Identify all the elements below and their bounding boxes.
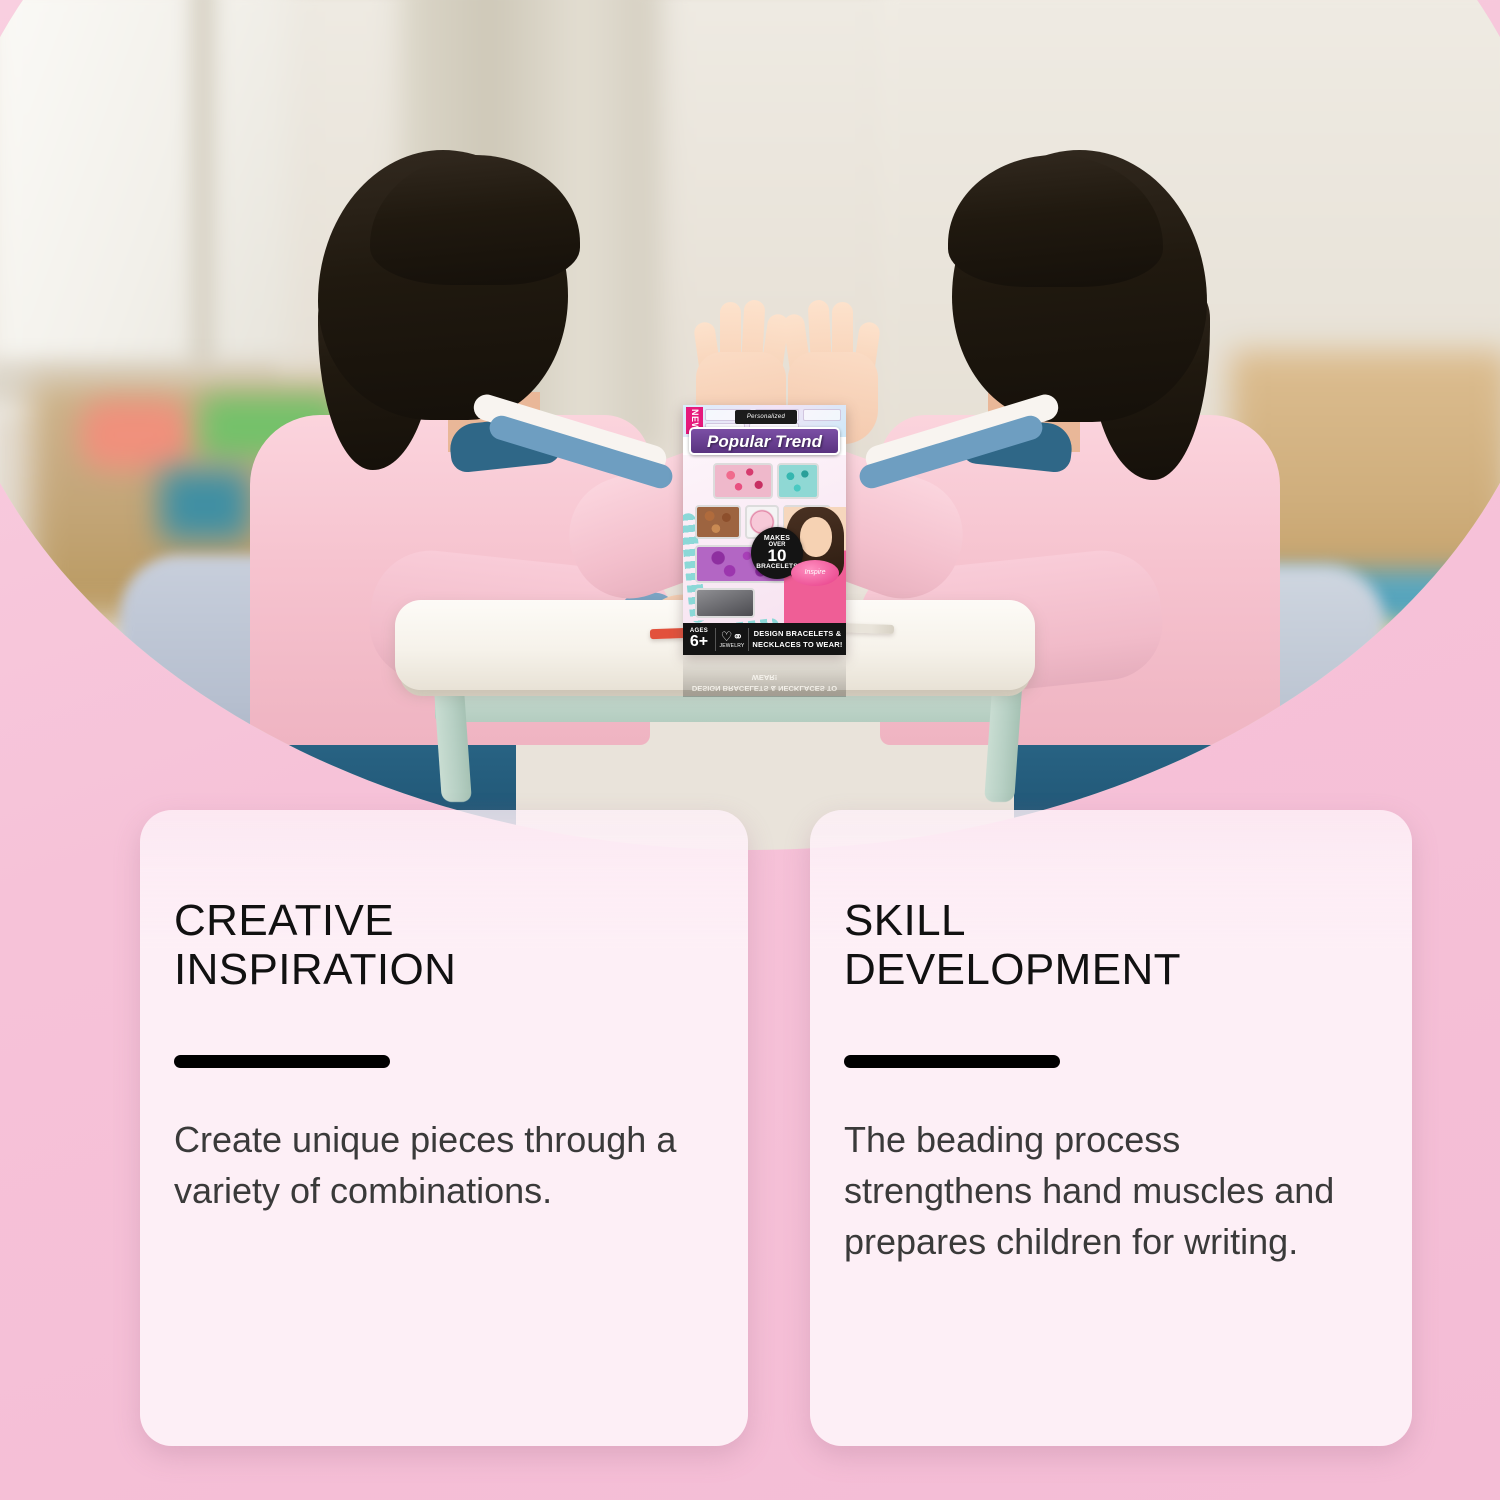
badge-line-makes: MAKES bbox=[764, 535, 790, 542]
badge-number: 10 bbox=[768, 548, 787, 564]
window-mullion bbox=[190, 0, 216, 420]
model-face bbox=[800, 517, 832, 557]
product-oval-script: Inspire bbox=[791, 560, 839, 586]
ages-value: 6+ bbox=[683, 634, 715, 650]
white-pen bbox=[838, 623, 894, 634]
product-box: LAB NO NEW Personalized Jewelry Popular … bbox=[683, 405, 846, 655]
product-box-reflection: DESIGN BRACELETS & NECKLACES TO WEAR! bbox=[683, 655, 846, 697]
page-canvas: LAB NO NEW Personalized Jewelry Popular … bbox=[0, 0, 1500, 1500]
card-body-text: Create unique pieces through a variety o… bbox=[174, 1114, 714, 1216]
product-box-footer: AGES 6+ ♡⚭ JEWELRY DESIGN BRACELETS & NE… bbox=[683, 623, 846, 655]
hero-photo: LAB NO NEW Personalized Jewelry Popular … bbox=[0, 0, 1500, 850]
bead-tray-grey bbox=[695, 588, 755, 618]
bead-tray-brown bbox=[695, 505, 741, 539]
heart-necklace-icon: ♡⚭ bbox=[721, 629, 744, 644]
feature-card-skill-development: SKILL DEVELOPMENT The beading process st… bbox=[810, 810, 1412, 1446]
bead-tray-pink bbox=[713, 463, 773, 499]
product-brand-tag: Personalized Jewelry bbox=[735, 410, 797, 424]
background-toy-orange bbox=[80, 400, 190, 470]
card-body-text: The beading process strengthens hand mus… bbox=[844, 1114, 1378, 1267]
card-divider bbox=[174, 1055, 390, 1068]
card-title: CREATIVE INSPIRATION bbox=[174, 896, 714, 995]
room-window bbox=[0, 0, 290, 410]
card-divider bbox=[844, 1055, 1060, 1068]
background-toy-teal bbox=[160, 470, 250, 540]
ages-block: AGES 6+ bbox=[683, 628, 715, 650]
hero-photo-ellipse-mask: LAB NO NEW Personalized Jewelry Popular … bbox=[0, 0, 1500, 850]
card-title: SKILL DEVELOPMENT bbox=[844, 896, 1378, 995]
jewelry-icon-label: JEWELRY bbox=[716, 644, 748, 649]
feature-card-creative-inspiration: CREATIVE INSPIRATION Create unique piece… bbox=[140, 810, 748, 1446]
product-tagline: DESIGN BRACELETS & NECKLACES TO WEAR! bbox=[749, 628, 846, 650]
jewelry-icon-block: ♡⚭ JEWELRY bbox=[715, 628, 749, 651]
header-panel bbox=[803, 409, 841, 421]
bead-tray-teal bbox=[777, 463, 819, 499]
product-title: Popular Trend bbox=[689, 427, 840, 455]
